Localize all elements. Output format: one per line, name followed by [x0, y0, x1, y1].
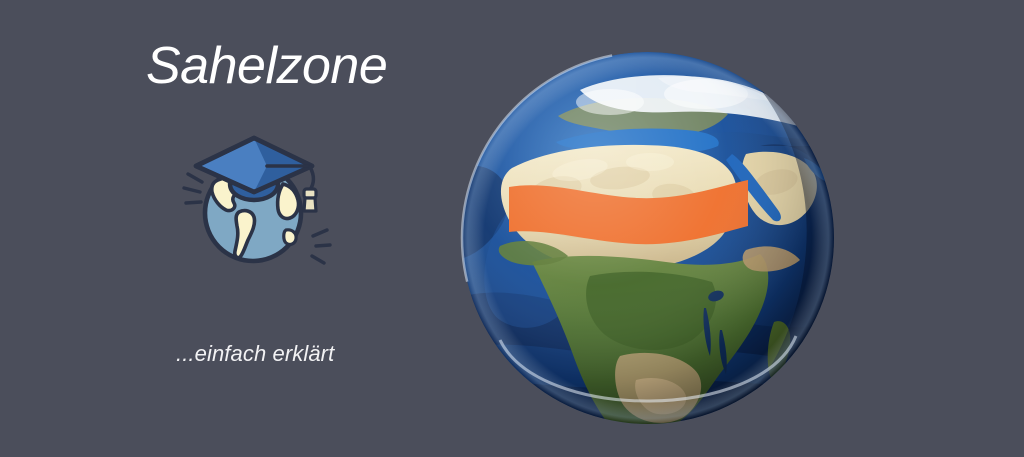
- earth-globe-africa: [460, 50, 836, 426]
- page-subtitle: ...einfach erklärt: [176, 341, 334, 367]
- sparkle-lines-left-icon: [184, 174, 202, 203]
- globe-graduation-cap-logo: [182, 126, 332, 276]
- slide-canvas: Sahelzone: [0, 0, 1024, 457]
- page-title: Sahelzone: [146, 38, 387, 95]
- sparkle-lines-right-icon: [312, 230, 330, 263]
